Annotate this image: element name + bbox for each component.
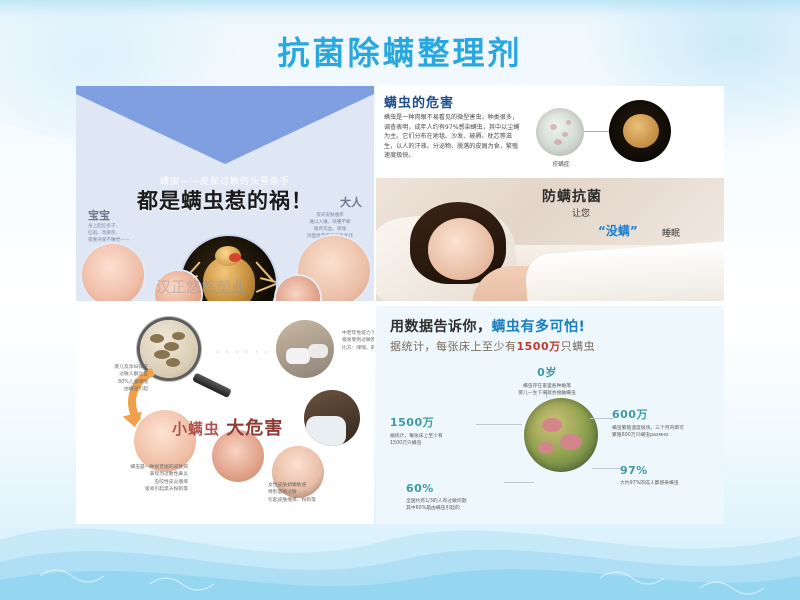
overlay-line-4: 睡眠	[662, 226, 680, 239]
data-panel-title: 用数据告诉你，螨虫有多可怕!	[390, 316, 585, 336]
panel-little-mite-big-harm: · · · · · · 小螨虫 大危害 婴儿及孕妇排在 过敏人群之首 80%儿童…	[76, 306, 374, 524]
stat-15-million: 1500万 据统计，每张床上至少有 1500万只螨虫	[390, 414, 476, 448]
harm-panel-title: 螨虫的危害	[384, 92, 454, 111]
stat-0-years: 0岁 螨虫存在家里各种角落 婴儿一生下来就会接触螨虫	[492, 364, 602, 398]
stat-desc: 螨虫存在家里各种角落 婴儿一生下来就会接触螨虫	[492, 383, 602, 398]
leader-line-60	[504, 482, 534, 483]
poster-heading: 都是螨虫惹的祸！	[76, 185, 374, 215]
photo-petri-dish-mites	[524, 398, 598, 472]
text-baby-pregnant: 婴儿及孕妇排在 过敏人群之首 80%儿童哮喘 由螨虫引起	[84, 364, 148, 394]
stat-value: 97%	[620, 464, 720, 477]
panel-mite-data: 用数据告诉你，螨虫有多可怕! 据统计，每张床上至少有1500万只螨虫 0岁 螨虫…	[376, 306, 724, 524]
overlay-line-2: 让您	[572, 206, 590, 219]
leader-line-600	[590, 418, 614, 419]
stat-value: 1500万	[390, 414, 476, 430]
text-elderly: 中老年免疫力下降 极易受到过敏原的袭击 比方：哮喘、麻疹等	[342, 330, 374, 352]
data-title-plain: 用数据告诉你，	[390, 319, 492, 335]
overlay-headline: 防螨抗菌	[542, 186, 602, 206]
mite-mouthpart	[229, 253, 241, 262]
shirt-shape	[306, 416, 346, 446]
subtitle-number: 1500万	[517, 340, 561, 353]
leader-line-97	[592, 468, 622, 469]
stat-desc: 大约97%的成人都感染螨虫	[620, 480, 720, 487]
poster-label-baby: 宝宝	[88, 207, 110, 223]
data-panel-subtitle: 据统计，每张床上至少有1500万只螨虫	[390, 338, 595, 354]
bl-title-big: 大危害	[226, 418, 283, 439]
woman-face	[428, 218, 494, 280]
stat-value: 0岁	[492, 364, 602, 380]
face-mask-icon	[286, 348, 310, 364]
poster-text-baby: 身上起红疹子、 红斑、荨麻疹、 夜晚哭闹不睡觉——	[88, 223, 152, 244]
text-women-skin: 女性皮肤娇嫩敏感 特别容易过敏 引起皮肤瘙痒、粉刺等	[268, 482, 370, 504]
stat-desc: 全国约有1/3的人有过敏问题 其中60%是由螨虫引起的	[406, 498, 506, 513]
stat-60-percent: 60% 全国约有1/3的人有过敏问题 其中60%是由螨虫引起的	[406, 482, 506, 513]
harm-circle-caption: 疥螨症	[534, 160, 588, 168]
subtitle-suffix: 只螨虫	[561, 340, 596, 353]
mite-shape	[623, 114, 659, 148]
leader-line-1500	[476, 424, 522, 425]
dotted-trail: · · · · · ·	[216, 348, 269, 358]
harm-panel-body: 螨虫是一种肉眼不易看见的微型害虫，种类很多，调查表明，成年人约有97%感染螨虫，…	[384, 113, 524, 161]
poster-label-adult: 大人	[340, 194, 362, 210]
stat-value: 60%	[406, 482, 506, 495]
stat-value: 600万	[612, 406, 712, 422]
photo-mite-dermatitis	[536, 108, 584, 156]
stat-desc: 据统计，每张床上至少有 1500万只螨虫	[390, 433, 476, 448]
panel-mite-harm: 螨虫的危害 螨虫是一种肉眼不易看见的微型害虫，种类很多，调查表明，成年人约有97…	[376, 86, 724, 301]
photo-man-sneezing	[304, 390, 360, 446]
photo-elderly-group	[276, 320, 334, 378]
page-title: 抗菌除螨整理剂	[0, 28, 800, 74]
subtitle-prefix: 据统计，每张床上至少有	[390, 340, 517, 353]
poster-watermark: 汉正悠悠塑业	[156, 276, 246, 297]
face-mask-icon-2	[308, 344, 328, 358]
panel-mite-allergy-poster: 螨虫——皮肤过敏的头号杀手 都是螨虫惹的祸！ 宝宝 身上起红疹子、 红斑、荨麻疹…	[76, 86, 374, 301]
photo-mite-microscope	[609, 100, 671, 162]
data-title-highlight: 螨虫有多可怕!	[492, 319, 586, 335]
overlay-line-3: “没螨”	[598, 222, 638, 239]
text-skin-disease: 螨虫是一种很普遍的皮肤病 表现为过敏性鼻炎 虫咬性皮炎瘙痒 极易引起黑头粉刺等	[82, 464, 188, 494]
callout-connector-line	[584, 131, 610, 132]
bl-title-small: 小螨虫	[172, 420, 220, 438]
stat-97-percent: 97% 大约97%的成人都感染螨虫	[620, 464, 720, 487]
stat-6-million: 600万 螨虫繁殖速度很快，三个月内即可 繁殖600万只螨虫размно	[612, 406, 712, 440]
photo-baby-face	[82, 244, 144, 301]
bl-panel-title: 小螨虫 大危害	[172, 414, 283, 440]
stat-desc: 螨虫繁殖速度很快，三个月内即可 繁殖600万只螨虫размно	[612, 425, 712, 440]
